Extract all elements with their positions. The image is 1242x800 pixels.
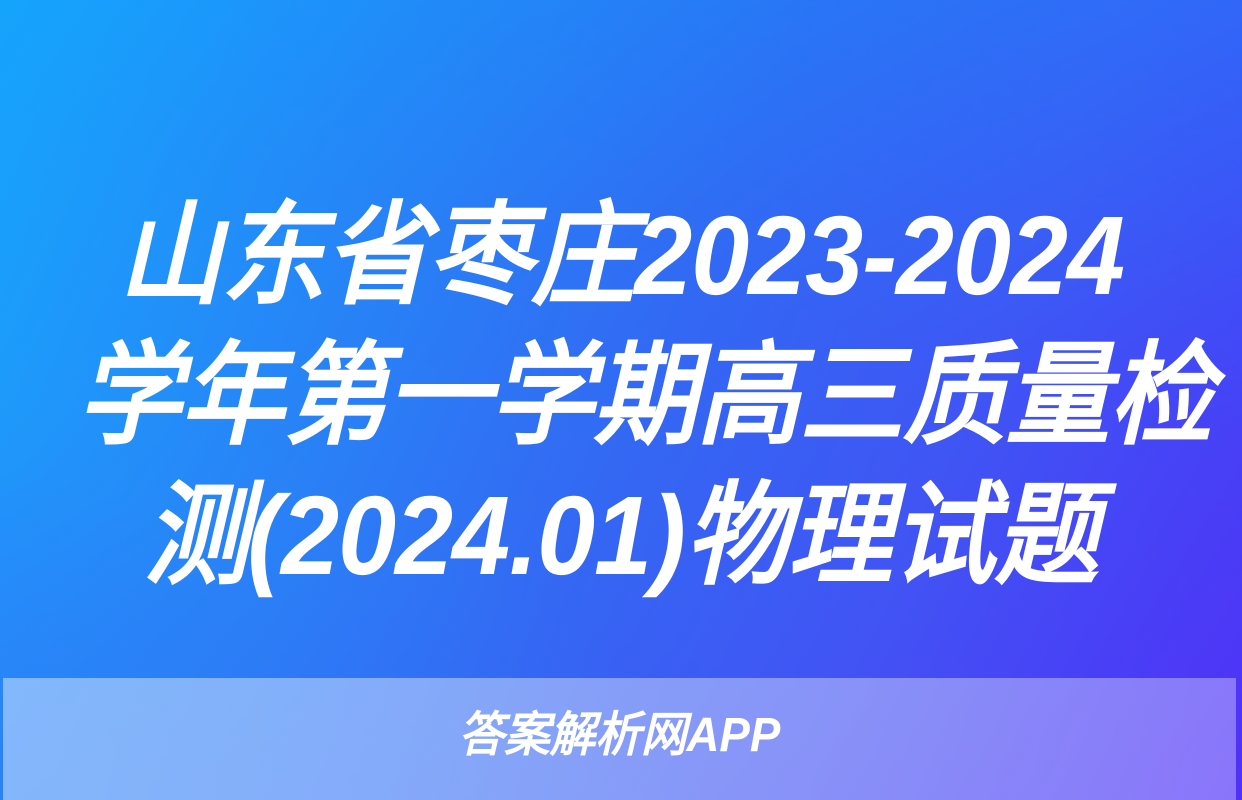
footer-banner: 答案解析网APP [3,678,1236,800]
title-line-1: 山东省枣庄2023-2024 [77,186,1165,326]
app-watermark-label: 答案解析网APP [459,712,781,760]
title-line-2: 学年第一学期高三质量检 [77,326,1165,466]
title-line-3: 测(2024.01)物理试题 [77,466,1165,606]
poster-canvas: 山东省枣庄2023-2024 学年第一学期高三质量检 测(2024.01)物理试… [0,0,1242,800]
page-title: 山东省枣庄2023-2024 学年第一学期高三质量检 测(2024.01)物理试… [0,186,1242,606]
